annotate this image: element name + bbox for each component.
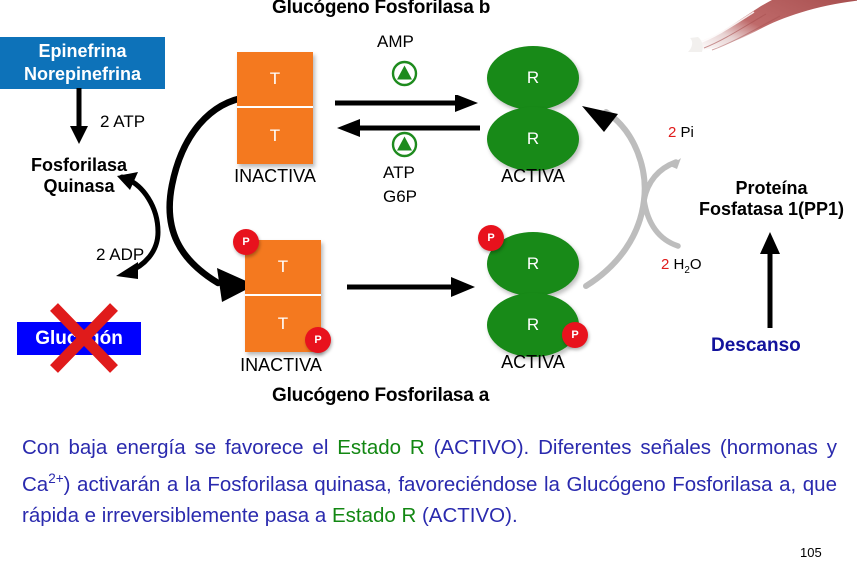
slide-caption: Con baja energía se favorece el Estado R… (22, 432, 837, 531)
glucagon-box[interactable]: Glucagón (17, 322, 141, 355)
amp-activator-icon (391, 60, 418, 87)
atp-g6p-activator-icon (391, 131, 418, 158)
muscle-illustration (688, 0, 857, 52)
epinephrine-to-kinase-arrow (64, 88, 94, 148)
phosphate-group-icon: P (305, 327, 331, 353)
r-subunit-lower: R (487, 107, 579, 171)
phosphatase-line-2: Fosfatasa 1(PP1) (686, 199, 857, 220)
t-subunit-upper: T (237, 52, 313, 108)
amp-label: AMP (377, 32, 414, 52)
phosphate-group-icon: P (562, 322, 588, 348)
ca-charge: 2+ (48, 471, 63, 486)
phosphate-group-icon: P (478, 225, 504, 251)
rest-signal-label: Descanso (711, 335, 801, 357)
page-title-bottom: Glucógeno Fosforilasa a (272, 385, 489, 407)
glucagon-label: Glucagón (35, 328, 123, 350)
phosphorylase-b-R-dimer[interactable]: R R (487, 46, 579, 171)
phosphorylase-a-conversion-arrow (347, 272, 477, 302)
phosphorylase-b-state-label: INACTIVA (222, 166, 328, 187)
water-text: H2O (674, 256, 702, 273)
phosphatase-line-1: Proteína (686, 178, 857, 199)
caption-part-1: Con baja energía se favorece el (22, 436, 337, 459)
pi-count: 2 (668, 124, 676, 141)
page-title-top: Glucógeno Fosforilasa b (272, 0, 490, 19)
r-subunit-upper: R (487, 46, 579, 110)
phosphate-group-icon: P (233, 229, 259, 255)
phosphorylase-b-T-dimer[interactable]: T T (237, 52, 313, 164)
g6p-inhibitor-label: G6P (383, 187, 417, 207)
caption-highlight-2: Estado R (332, 504, 416, 527)
atp-input-label: 2 ATP (100, 112, 145, 132)
atp-inhibitor-label: ATP (383, 163, 415, 183)
phosphorylase-a-active-label: ACTIVA (480, 352, 586, 373)
pi-text: Pi (681, 124, 694, 141)
caption-part-3: (ACTIVO). (416, 504, 517, 527)
water-input-label: 2 H2O (661, 256, 702, 276)
pi-output-label: 2 Pi (668, 124, 694, 141)
adp-output-label: 2 ADP (96, 245, 144, 265)
page-number: 105 (800, 545, 822, 560)
rest-to-phosphatase-arrow (755, 228, 785, 328)
phosphorylase-b-active-label: ACTIVA (480, 166, 586, 187)
slide-canvas: Glucógeno Fosforilasa b Glucógeno Fosfor… (0, 0, 857, 573)
epinephrine-label: Epinefrina (38, 40, 126, 63)
caption-highlight-1: Estado R (337, 436, 424, 459)
phosphorylase-a-state-label: INACTIVA (228, 355, 334, 376)
water-count: 2 (661, 256, 669, 273)
protein-phosphatase-label: Proteína Fosfatasa 1(PP1) (686, 178, 857, 220)
t-subunit-lower: T (237, 108, 313, 164)
